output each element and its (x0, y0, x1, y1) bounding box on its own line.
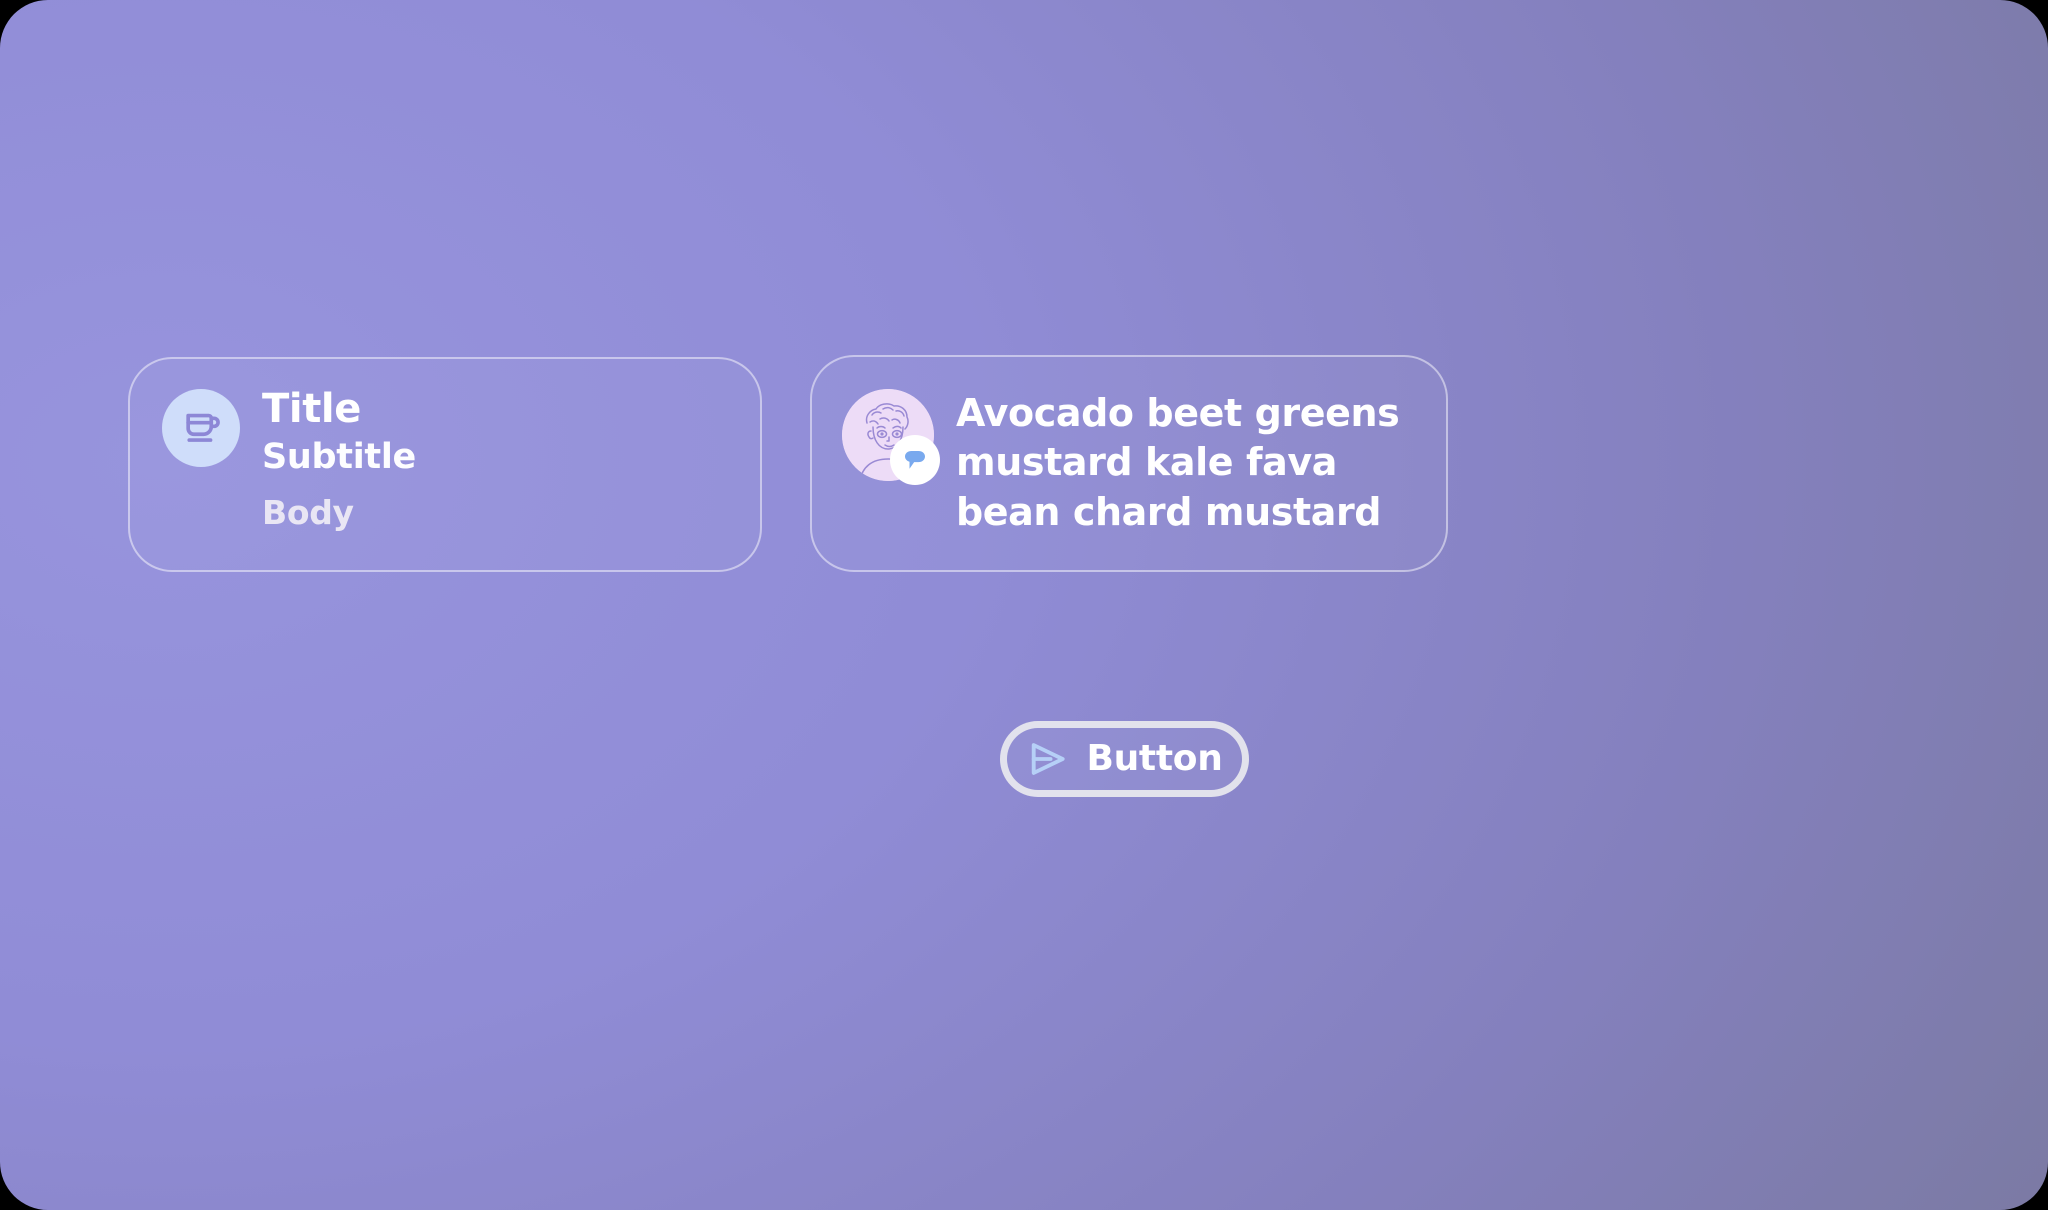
chat-bubble-badge (890, 435, 940, 485)
message-card-content: Avocado beet greens mustard kale fava be… (842, 389, 1424, 537)
coffee-cup-glyph (179, 406, 223, 450)
message-card[interactable]: Avocado beet greens mustard kale fava be… (810, 355, 1448, 572)
card-title: Title (262, 387, 416, 432)
send-button[interactable]: Button (1000, 721, 1249, 797)
screen-canvas: Title Subtitle Body (0, 0, 2048, 1210)
info-card-content: Title Subtitle Body (162, 387, 736, 532)
coffee-cup-icon (162, 389, 240, 467)
card-body: Body (262, 495, 416, 532)
message-text: Avocado beet greens mustard kale fava be… (956, 389, 1424, 537)
send-icon (1026, 737, 1070, 781)
send-button-label: Button (1086, 741, 1222, 777)
chat-bubble-icon (900, 445, 930, 475)
info-card-text-column: Title Subtitle Body (262, 387, 416, 532)
info-card[interactable]: Title Subtitle Body (128, 357, 762, 572)
avatar[interactable] (842, 389, 934, 481)
card-subtitle: Subtitle (262, 438, 416, 477)
